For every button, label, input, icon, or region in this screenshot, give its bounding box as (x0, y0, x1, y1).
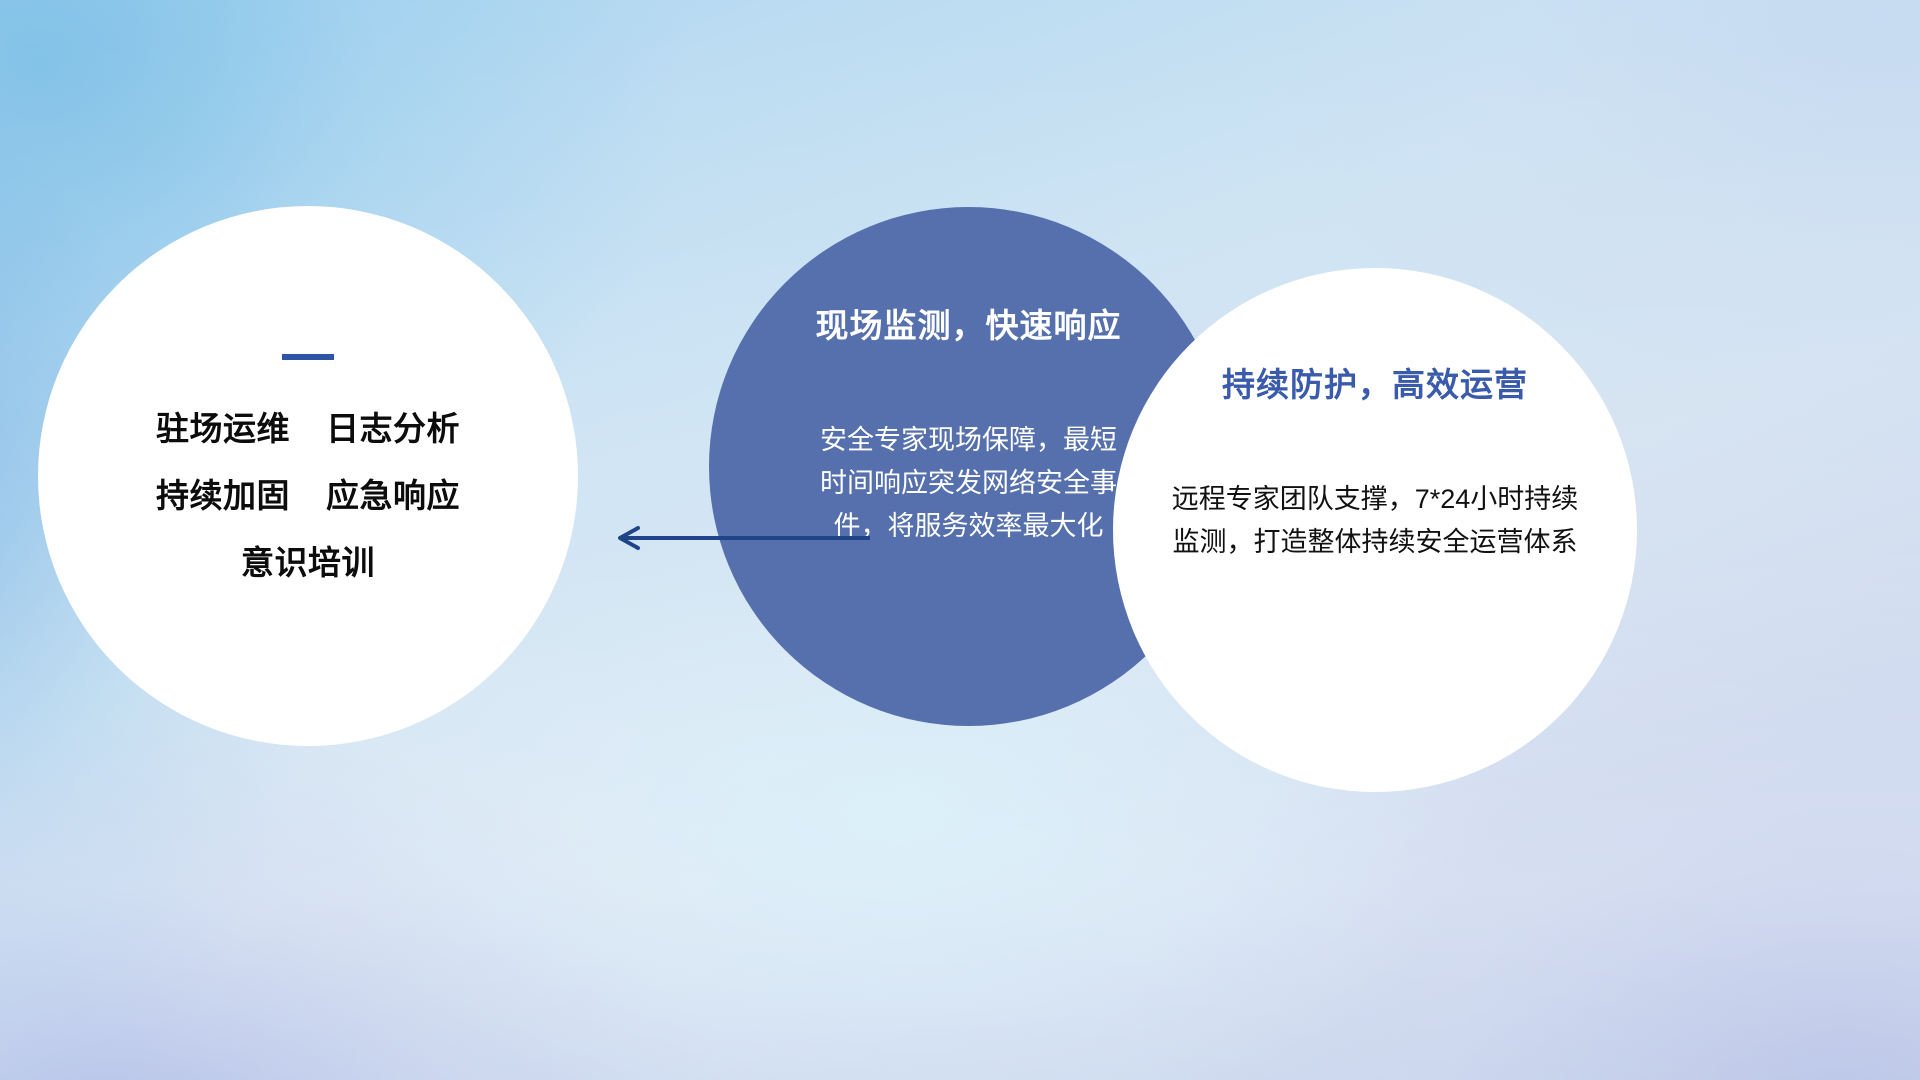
connector-arrow-left (608, 524, 870, 552)
capability-tag: 驻场运维 (156, 412, 290, 445)
infographic-canvas: 驻场运维 日志分析 持续加固 应急响应 意识培训 现场监测，快速响应 安全专家现… (0, 0, 1920, 1080)
capability-row: 意识培训 (241, 546, 375, 579)
left-circle-content: 驻场运维 日志分析 持续加固 应急响应 意识培训 (38, 206, 578, 746)
right-circle-content: 持续防护，高效运营 远程专家团队支撑，7*24小时持续监测，打造整体持续安全运营… (1113, 268, 1637, 792)
capability-tag: 日志分析 (326, 412, 460, 445)
capability-row: 驻场运维 日志分析 (156, 412, 460, 445)
right-circle-title: 持续防护，高效运营 (1222, 358, 1528, 406)
capability-tag: 持续加固 (156, 479, 290, 512)
accent-divider-line (282, 354, 334, 360)
capability-tag: 应急响应 (326, 479, 460, 512)
middle-circle-title: 现场监测，快速响应 (816, 299, 1122, 347)
capability-row: 持续加固 应急响应 (156, 479, 460, 512)
capability-tag: 意识培训 (241, 546, 375, 579)
right-circle-body: 远程专家团队支撑，7*24小时持续监测，打造整体持续安全运营体系 (1161, 478, 1589, 564)
